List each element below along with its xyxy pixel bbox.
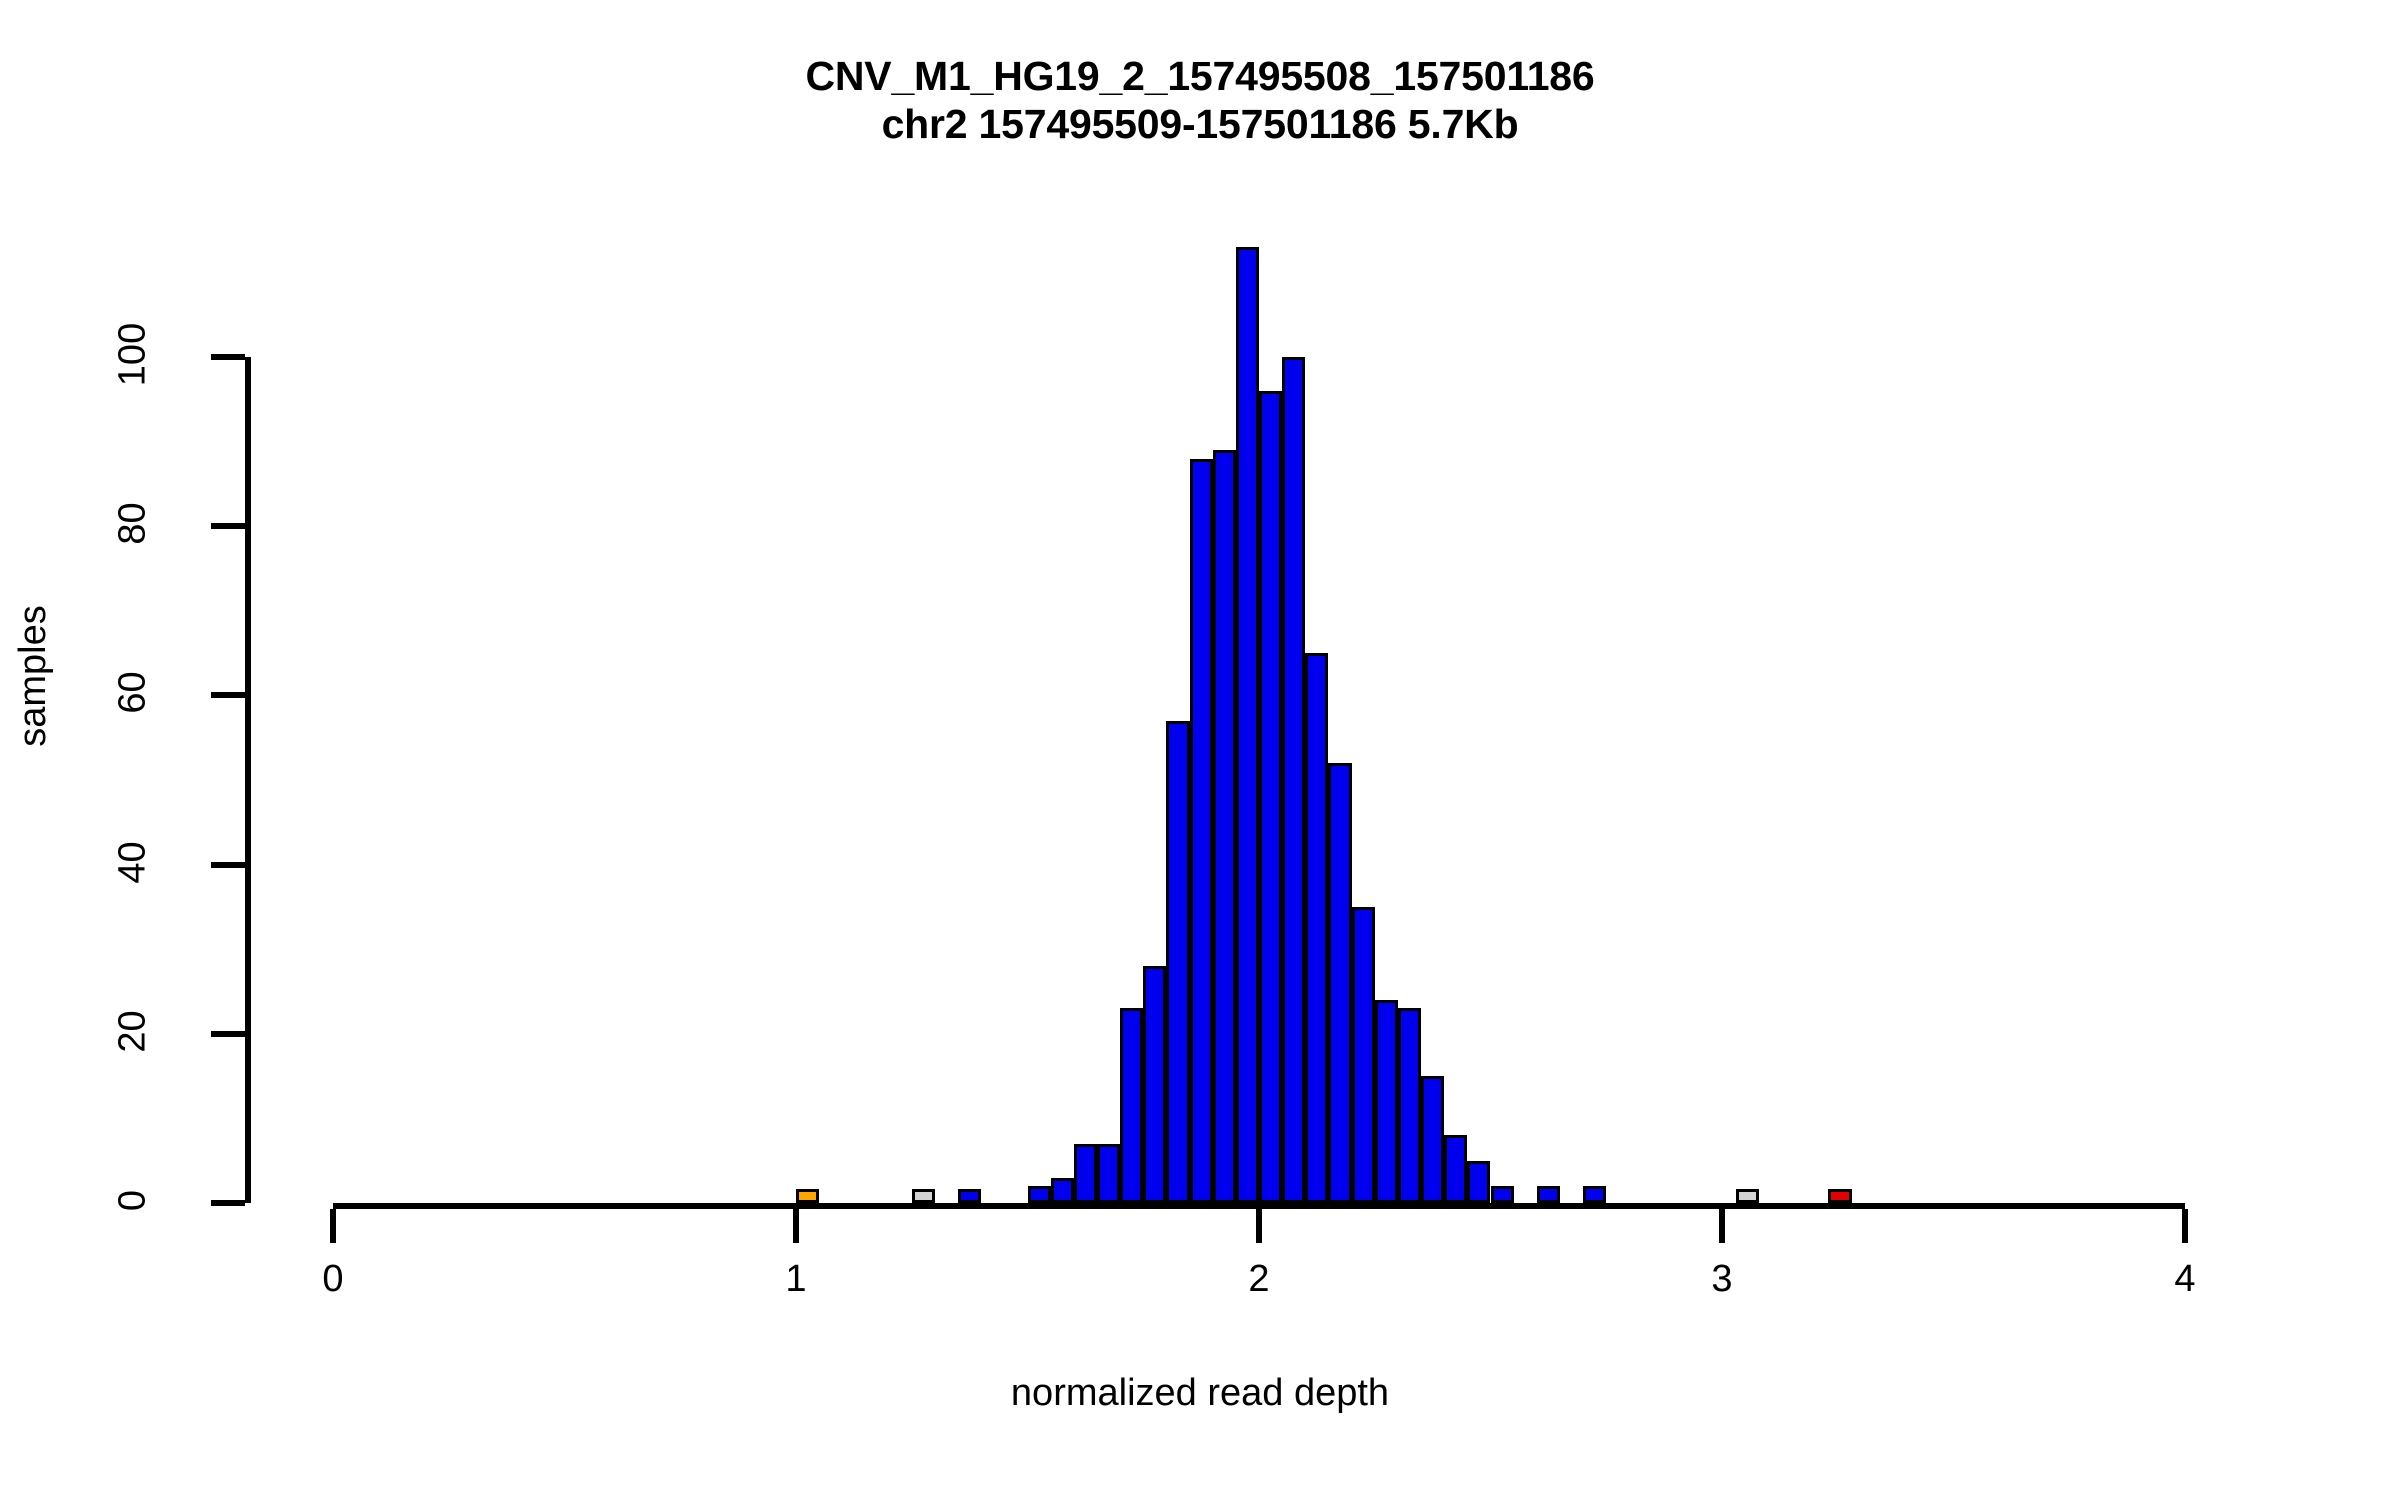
histogram-bar (1074, 1144, 1097, 1203)
histogram-bar (1352, 907, 1375, 1203)
y-axis-tick-label: 40 (112, 792, 155, 932)
x-axis-tick-label: 4 (2125, 1258, 2245, 1301)
histogram-bar (1213, 450, 1236, 1203)
y-axis-tick (211, 354, 245, 360)
y-axis-tick (211, 862, 245, 868)
y-axis-label-wrap: samples (0, 576, 66, 776)
histogram-bar (1143, 966, 1166, 1203)
y-axis-line (245, 357, 251, 1203)
x-axis-tick-label: 2 (1199, 1258, 1319, 1301)
histogram-bar (1259, 391, 1282, 1203)
histogram-figure: CNV_M1_HG19_2_157495508_157501186 chr2 1… (0, 0, 2400, 1500)
histogram-bar (1375, 1000, 1398, 1203)
histogram-bar (1166, 721, 1189, 1203)
histogram-bar (1097, 1144, 1120, 1203)
x-axis-tick (1256, 1209, 1262, 1243)
histogram-bar (1190, 459, 1213, 1203)
y-axis-tick-label: 100 (112, 285, 155, 425)
x-axis-tick (330, 1209, 336, 1243)
histogram-bar (1282, 357, 1305, 1203)
x-axis-tick-label: 1 (736, 1258, 856, 1301)
x-axis-tick-label: 0 (273, 1258, 393, 1301)
histogram-bar (1120, 1008, 1143, 1203)
histogram-bar (1444, 1135, 1467, 1203)
histogram-bar (912, 1189, 935, 1203)
histogram-bar (1421, 1076, 1444, 1203)
histogram-bar (1583, 1186, 1606, 1203)
histogram-bar (958, 1189, 981, 1203)
x-axis-tick (2182, 1209, 2188, 1243)
histogram-bar (1736, 1189, 1759, 1203)
y-axis-tick-label: 80 (112, 454, 155, 594)
y-axis-tick (211, 1200, 245, 1206)
histogram-bar (1467, 1161, 1490, 1203)
histogram-bar (796, 1189, 819, 1203)
histogram-bar (1398, 1008, 1421, 1203)
y-axis-tick-label: 20 (112, 961, 155, 1101)
y-axis-tick (211, 692, 245, 698)
histogram-bar (1537, 1186, 1560, 1203)
histogram-bar (1828, 1189, 1851, 1203)
y-axis-tick-label: 0 (112, 1131, 155, 1271)
histogram-bar (1028, 1186, 1051, 1203)
x-axis-tick-label: 3 (1662, 1258, 1782, 1301)
histogram-bar (1305, 653, 1328, 1203)
histogram-bar (1236, 247, 1259, 1203)
x-axis-tick (1719, 1209, 1725, 1243)
plot-area: 01234020406080100 (0, 0, 2400, 1500)
x-axis-tick (793, 1209, 799, 1243)
histogram-bar (1328, 763, 1351, 1203)
y-axis-tick-label: 60 (112, 623, 155, 763)
histogram-bar (1051, 1178, 1074, 1203)
y-axis-tick (211, 1031, 245, 1037)
y-axis-label: samples (12, 605, 55, 747)
histogram-bar (1491, 1186, 1514, 1203)
y-axis-tick (211, 523, 245, 529)
x-axis-label: normalized read depth (0, 1372, 2400, 1415)
